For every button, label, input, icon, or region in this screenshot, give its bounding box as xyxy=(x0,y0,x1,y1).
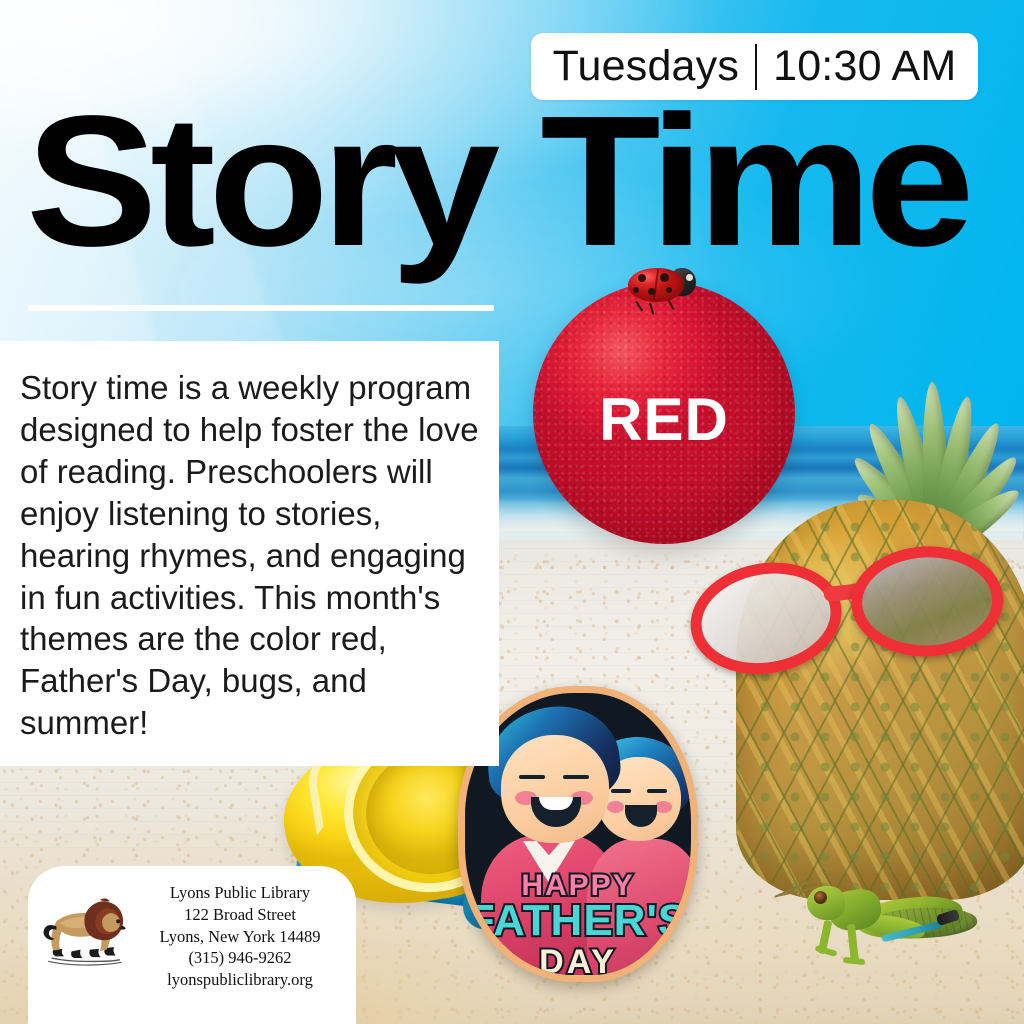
grasshopper-icon xyxy=(795,872,991,968)
story-time-flyer: RED xyxy=(0,0,1024,1024)
sunglasses-left-lens xyxy=(682,551,851,686)
sunglasses-right-lens xyxy=(849,544,1005,659)
library-contact-panel: Lyons Public Library 122 Broad Street Ly… xyxy=(28,866,356,1024)
sticker-line-fathers: FATHER'S xyxy=(465,899,691,943)
grasshopper-head xyxy=(807,886,845,920)
library-name: Lyons Public Library xyxy=(136,882,344,904)
title-underline-rule xyxy=(28,305,494,311)
red-ball-label: RED xyxy=(599,385,729,454)
lion-logo-icon xyxy=(38,888,130,968)
library-phone: (315) 946-9262 xyxy=(136,947,344,969)
library-street: 122 Broad Street xyxy=(136,904,344,926)
description-panel: Story time is a weekly program designed … xyxy=(0,341,499,766)
description-text: Story time is a weekly program designed … xyxy=(20,367,481,744)
red-ball-icon: RED xyxy=(533,282,795,544)
library-website: lyonspubliclibrary.org xyxy=(136,969,344,991)
library-city-state-zip: Lyons, New York 14489 xyxy=(136,926,344,948)
contact-details: Lyons Public Library 122 Broad Street Ly… xyxy=(136,880,344,991)
sticker-line-day: DAY xyxy=(465,945,691,979)
page-title: Story Time xyxy=(26,96,1024,267)
grasshopper-eye xyxy=(814,891,827,904)
